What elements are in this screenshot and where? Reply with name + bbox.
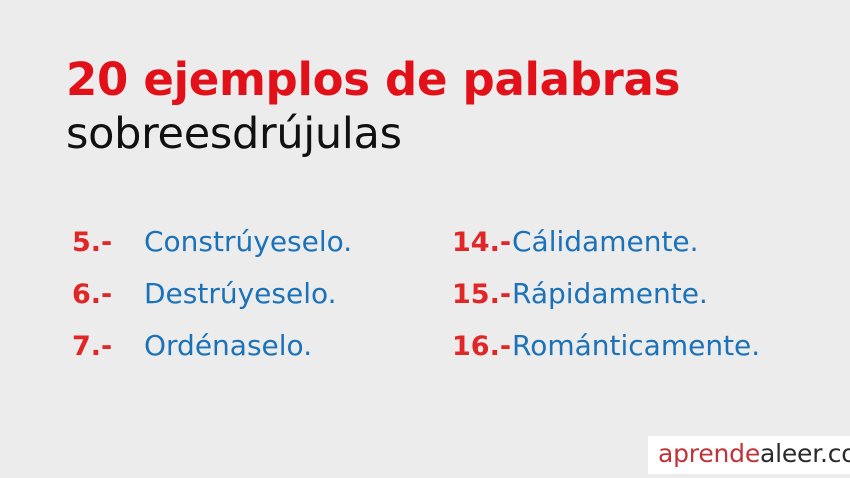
list-item: 16.- Románticamente. — [452, 332, 842, 384]
list-item-term: Constrúyeselo. — [144, 228, 352, 256]
list-item: 5.- Constrúyeselo. — [72, 228, 402, 280]
list-item-term: Ordénaselo. — [144, 332, 312, 360]
list-item: 14.- Cálidamente. — [452, 228, 842, 280]
logo-tld: .com — [820, 439, 850, 468]
title-line-secondary: sobreesdrújulas — [66, 108, 806, 160]
word-column-left: 5.- Constrúyeselo. 6.- Destrúyeselo. 7.-… — [72, 228, 402, 384]
list-item-number: 5.- — [72, 229, 144, 256]
list-item: 15.- Rápidamente. — [452, 280, 842, 332]
list-item-term: Rápidamente. — [512, 280, 708, 308]
list-item-term: Cálidamente. — [512, 228, 699, 256]
site-logo[interactable]: aprendealeer.com — [648, 436, 850, 474]
logo-brand-primary: aprende — [658, 439, 760, 468]
list-item-number: 16.- — [452, 333, 512, 360]
list-item-number: 15.- — [452, 281, 512, 308]
list-item-number: 7.- — [72, 333, 144, 360]
list-item-number: 14.- — [452, 229, 512, 256]
word-column-right: 14.- Cálidamente. 15.- Rápidamente. 16.-… — [452, 228, 842, 384]
list-item: 6.- Destrúyeselo. — [72, 280, 402, 332]
list-item-number: 6.- — [72, 281, 144, 308]
logo-brand-secondary: aleer — [760, 439, 820, 468]
list-item: 7.- Ordénaselo. — [72, 332, 402, 384]
list-item-term: Destrúyeselo. — [144, 280, 337, 308]
slide: 20 ejemplos de palabras sobreesdrújulas … — [0, 0, 850, 478]
word-list: 5.- Constrúyeselo. 6.- Destrúyeselo. 7.-… — [0, 228, 850, 388]
page-title: 20 ejemplos de palabras sobreesdrújulas — [66, 54, 806, 160]
title-line-primary: 20 ejemplos de palabras — [66, 54, 806, 106]
list-item-term: Románticamente. — [512, 332, 760, 360]
